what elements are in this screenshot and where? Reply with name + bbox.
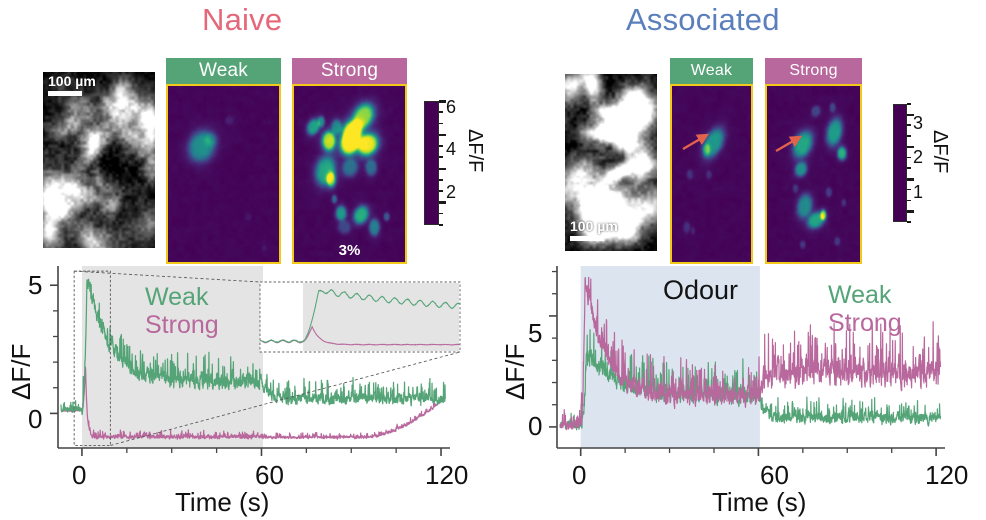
colorbar-tick-mark [439,156,443,158]
colorbar-tick-mark [907,189,911,191]
scalebar-naive: 100 µm [48,74,96,96]
colorbar-tick-mark [907,200,911,202]
activity-map-body-associated-weak [670,84,753,264]
colorbar-gradient-naive [424,101,439,225]
colorbar-tick-label-associated-2: 2 [913,148,923,166]
colorbar-tick-mark [907,167,911,169]
colorbar-tick-mark [907,114,914,117]
activity-map-header-associated-strong: Strong [765,58,862,84]
colorbar-tick-label-naive-2: 2 [446,183,456,201]
x-tick-label-naive-120: 120 [425,460,468,491]
scalebar-label-associated: 100 µm [570,219,618,234]
colorbar-tick-mark [439,123,443,125]
y-tick-label-naive-0: 0 [28,404,42,435]
colorbar-tick-mark [907,135,911,137]
x-tick-label-naive-0: 0 [72,460,86,491]
inset-zoom-panel [260,282,460,352]
activity-map-header-naive-strong: Strong [292,58,407,84]
y-axis-label-naive: ΔF/F [6,344,37,400]
activity-map-body-associated-strong [765,84,862,264]
y-tick-label-associated-0: 0 [528,411,542,442]
colorbar-tick-mark [439,190,443,192]
stimulus-label-odour: Odour [663,275,738,306]
trace-plot-associated [493,258,986,468]
y-tick-label-associated-5: 5 [528,318,542,349]
scalebar-label-naive: 100 µm [48,74,96,89]
colorbar-tick-mark [907,103,911,105]
colorbar-tick-mark [439,179,443,181]
scalebar-line-naive [48,91,82,96]
colorbar-tick-mark [907,210,914,213]
activity-map-associated-weak[interactable]: Weak [670,58,753,264]
colorbar-tick-label-associated-1: 1 [913,183,923,201]
colorbar-tick-mark [907,157,911,159]
colorbar-tick-label-naive-6: 6 [446,98,456,116]
legend-item-naive-strong: Strong [145,311,219,339]
activity-map-body-naive-weak [166,84,281,264]
colorbar-tick-mark [907,124,911,126]
x-tick-label-associated-120: 120 [925,460,968,491]
colorbar-tick-mark [439,134,446,137]
colorbar-tick-mark [439,145,443,147]
legend-item-associated-strong: Strong [828,309,902,337]
activity-map-body-naive-strong: 3% [292,84,407,264]
y-tick-label-naive-5: 5 [28,270,42,301]
legend-item-associated-weak: Weak [828,281,891,309]
colorbar-tick-mark [907,221,911,223]
activity-map-naive-weak[interactable]: Weak [166,58,281,264]
colorbar-axis-label-associated: ΔF/F [928,130,951,173]
activity-map-annotation-naive-strong: 3% [294,242,405,259]
scalebar-line-associated [570,236,604,241]
colorbar-tick-mark [439,201,446,204]
activity-map-header-associated-weak: Weak [670,58,753,84]
panel-title-naive: Naive [202,2,282,38]
colorbar-tick-mark [439,100,446,103]
x-axis-label-naive: Time (s) [175,487,269,518]
anatomy-image-naive [43,72,155,248]
figure-root: Naive 100 µm Weak Strong 3% 6 4 2 ΔF/F A… [0,0,986,520]
colorbar-associated: 3 2 1 ΔF/F [893,104,959,222]
x-axis-label-associated: Time (s) [712,487,806,518]
colorbar-tick-mark [439,213,443,215]
colorbar-tick-mark [439,111,443,113]
colorbar-axis-label-naive: ΔF/F [463,129,486,172]
colorbar-tick-label-associated-3: 3 [913,114,923,132]
trace-plot-naive [0,258,493,468]
colorbar-tick-mark [439,168,446,171]
scalebar-associated: 100 µm [570,219,618,241]
x-tick-label-associated-0: 0 [572,460,586,491]
activity-map-associated-strong[interactable]: Strong [765,58,862,264]
colorbar-tick-mark [907,146,914,149]
colorbar-tick-mark [907,178,914,181]
activity-map-naive-strong[interactable]: Strong 3% [292,58,407,264]
colorbar-gradient-associated [893,104,907,222]
colorbar-tick-label-naive-4: 4 [446,140,456,158]
y-axis-label-associated: ΔF/F [500,344,531,400]
legend-item-naive-weak: Weak [145,283,208,311]
panel-title-associated: Associated [626,2,780,38]
activity-map-header-naive-weak: Weak [166,58,281,84]
colorbar-naive: 6 4 2 ΔF/F [424,101,490,225]
colorbar-tick-mark [439,224,443,226]
